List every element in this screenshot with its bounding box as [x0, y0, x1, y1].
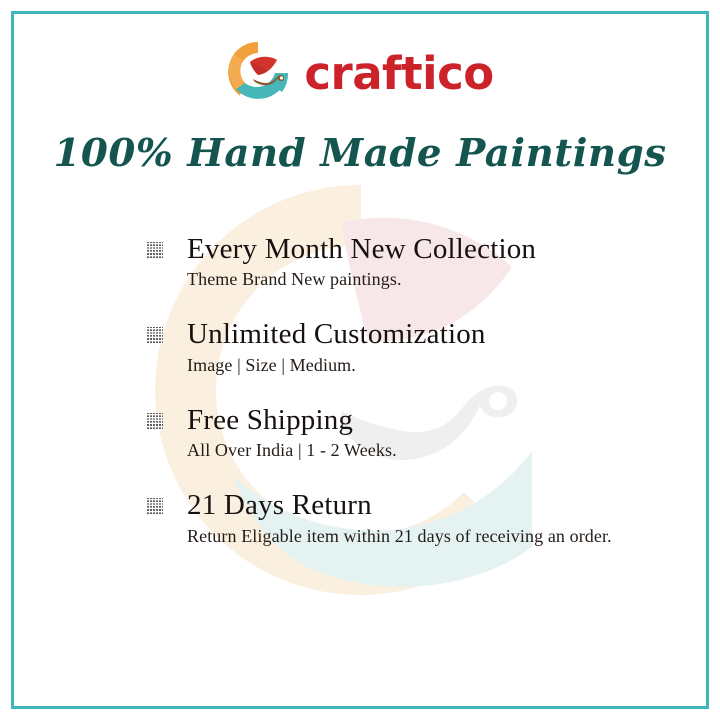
craftico-c-brush-logo-icon — [226, 40, 290, 104]
tagline-heading: 100% Hand Made Paintings — [0, 132, 720, 174]
brand-logo-lockup: craftico — [0, 34, 720, 110]
list-item: 21 Days Return Return Eligable item with… — [146, 490, 616, 548]
woven-square-bullet-icon — [146, 498, 163, 515]
woven-square-bullet-icon — [146, 327, 163, 344]
feature-title: 21 Days Return — [187, 490, 616, 520]
brand-wordmark: craftico — [304, 51, 493, 96]
promo-banner: craftico 100% Hand Made Paintings Every … — [0, 0, 720, 720]
feature-title: Every Month New Collection — [187, 234, 616, 264]
list-item: Free Shipping All Over India | 1 - 2 Wee… — [146, 405, 616, 463]
feature-list: Every Month New Collection Theme Brand N… — [146, 234, 616, 549]
feature-subtitle: Theme Brand New paintings. — [187, 268, 616, 292]
list-item: Unlimited Customization Image | Size | M… — [146, 319, 616, 377]
feature-title: Unlimited Customization — [187, 319, 616, 349]
feature-subtitle: Return Eligable item within 21 days of r… — [187, 525, 616, 549]
feature-title: Free Shipping — [187, 405, 616, 435]
feature-subtitle: Image | Size | Medium. — [187, 354, 616, 378]
woven-square-bullet-icon — [146, 413, 163, 430]
list-item: Every Month New Collection Theme Brand N… — [146, 234, 616, 292]
woven-square-bullet-icon — [146, 242, 163, 259]
feature-subtitle: All Over India | 1 - 2 Weeks. — [187, 439, 616, 463]
